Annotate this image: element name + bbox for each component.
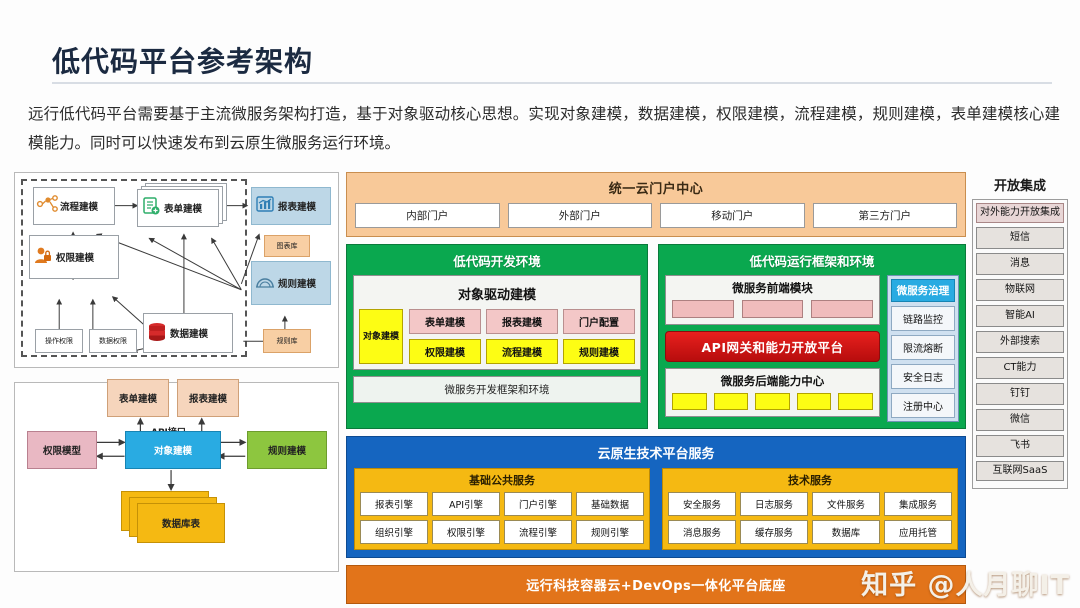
basic-service-rule-engine[interactable]: 规则引擎: [576, 520, 644, 544]
basic-services-group: 基础公共服务 报表引擎 API引擎 门户引擎 基础数据 组织引擎 权限引擎 流程…: [354, 468, 650, 550]
frontend-slot-2[interactable]: [742, 300, 804, 318]
report-chart-icon: [252, 195, 278, 217]
frontend-slots-row: [672, 300, 873, 318]
object-driven-modeling-panel: 对象驱动建模 对象建模 表单建模 报表建模 门户配置 权限建模 流程建模 规则建…: [353, 275, 641, 370]
integration-item-external-capability[interactable]: 对外能力开放集成: [976, 203, 1064, 223]
chart-library-label: 图表库: [277, 241, 298, 251]
basic-service-permission-engine[interactable]: 权限引擎: [432, 520, 500, 544]
rule-model-node: 规则建模: [247, 431, 327, 469]
integration-item-iot[interactable]: 物联网: [976, 279, 1064, 301]
object-form-label: 表单建模: [119, 391, 157, 405]
data-modeling-node: 数据建模: [143, 313, 233, 353]
basic-services-title: 基础公共服务: [360, 472, 644, 488]
portal-item-mobile[interactable]: 移动门户: [660, 203, 805, 228]
odm-title: 对象驱动建模: [359, 284, 635, 303]
title-divider: [52, 82, 1052, 84]
basic-service-org-engine[interactable]: 组织引擎: [360, 520, 428, 544]
object-report-node: 报表建模: [177, 379, 239, 417]
permission-modeling-label: 权限建模: [56, 250, 94, 264]
unified-portal-block: 统一云门户中心 内部门户 外部门户 移动门户 第三方门户: [346, 172, 966, 237]
basic-service-api-engine[interactable]: API引擎: [432, 492, 500, 516]
odm-chip-portal-config[interactable]: 门户配置: [563, 309, 635, 334]
odm-chip-form[interactable]: 表单建模: [409, 309, 481, 334]
operation-permission-label: 操作权限: [45, 336, 73, 346]
tech-services-title: 技术服务: [668, 472, 952, 488]
object-report-label: 报表建模: [189, 391, 227, 405]
object-model-diagram: 表单建模 报表建模 API接口 权限模型 对象建模 规则建模 数据库表: [14, 382, 339, 572]
object-modeling-label: 对象建模: [154, 443, 192, 457]
flow-modeling-label: 流程建模: [60, 199, 98, 213]
basic-service-portal-engine[interactable]: 门户引擎: [504, 492, 572, 516]
backend-slots-row: [672, 393, 873, 410]
dev-env-title: 低代码开发环境: [353, 251, 641, 270]
integration-item-sms[interactable]: 短信: [976, 227, 1064, 249]
odm-chip-permission[interactable]: 权限建模: [409, 339, 481, 364]
flow-graph-icon: [34, 195, 60, 217]
frontend-slot-3[interactable]: [811, 300, 873, 318]
cloud-native-groups: 基础公共服务 报表引擎 API引擎 门户引擎 基础数据 组织引擎 权限引擎 流程…: [354, 468, 958, 550]
rule-library-node: 规则库: [263, 329, 311, 353]
permission-model-label: 权限模型: [43, 443, 81, 457]
tech-service-log[interactable]: 日志服务: [740, 492, 808, 516]
open-integration-title: 开放集成: [972, 172, 1068, 199]
report-modeling-node: 报表建模: [251, 187, 331, 225]
data-modeling-label: 数据建模: [170, 326, 208, 340]
object-modeling-node: 对象建模: [125, 431, 221, 469]
integration-item-dingtalk[interactable]: 钉钉: [976, 383, 1064, 405]
portal-items-row: 内部门户 外部门户 移动门户 第三方门户: [355, 203, 957, 228]
db-table-label: 数据库表: [162, 516, 200, 530]
data-permission-label: 数据权限: [99, 336, 127, 346]
portal-title: 统一云门户中心: [355, 178, 957, 197]
object-form-node: 表单建模: [107, 379, 169, 417]
chart-library-node: 图表库: [264, 235, 310, 257]
cloud-native-platform-block: 云原生技术平台服务 基础公共服务 报表引擎 API引擎 门户引擎 基础数据 组织…: [346, 436, 966, 558]
platform-foundation-bar: 远行科技容器云+DevOps一体化平台底座: [346, 565, 966, 604]
run-env-main: 微服务前端模块 API网关和能力开放平台 微服务后端能力中心: [665, 275, 880, 422]
odm-object-modeling[interactable]: 对象建模: [359, 309, 403, 364]
basic-service-report-engine[interactable]: 报表引擎: [360, 492, 428, 516]
backend-slot-2[interactable]: [714, 393, 749, 410]
permission-modeling-node: 权限建模: [29, 235, 119, 279]
tech-service-app-hosting[interactable]: 应用托管: [884, 520, 952, 544]
run-env-title: 低代码运行框架和环境: [665, 251, 959, 270]
frontend-modules-title: 微服务前端模块: [672, 280, 873, 296]
rule-arc-icon: [252, 273, 278, 293]
integration-item-ct[interactable]: CT能力: [976, 357, 1064, 379]
db-table-node: 数据库表: [137, 503, 225, 543]
tech-service-database[interactable]: 数据库: [812, 520, 880, 544]
modeling-relations-diagram: 流程建模 表单建模 报表建模 图表库 权限建模: [14, 172, 339, 368]
tech-service-security[interactable]: 安全服务: [668, 492, 736, 516]
governance-item-registry[interactable]: 注册中心: [891, 393, 955, 418]
integration-item-message[interactable]: 消息: [976, 253, 1064, 275]
basic-service-base-data[interactable]: 基础数据: [576, 492, 644, 516]
frontend-slot-1[interactable]: [672, 300, 734, 318]
microservice-governance-panel: 微服务治理 链路监控 限流熔断 安全日志 注册中心: [887, 275, 959, 422]
form-modeling-label: 表单建模: [164, 201, 202, 215]
governance-title: 微服务治理: [891, 279, 955, 302]
frontend-modules-panel: 微服务前端模块: [665, 275, 880, 325]
rule-modeling-label: 规则建模: [278, 276, 316, 290]
governance-item-ratelimit[interactable]: 限流熔断: [891, 335, 955, 360]
rule-library-label: 规则库: [277, 336, 298, 346]
intro-paragraph: 远行低代码平台需要基于主流微服务架构打造，基于对象驱动核心思想。实现对象建模，数…: [28, 100, 1060, 158]
architecture-column: 统一云门户中心 内部门户 外部门户 移动门户 第三方门户 低代码开发环境 对象驱…: [346, 172, 966, 604]
basic-service-flow-engine[interactable]: 流程引擎: [504, 520, 572, 544]
data-permission-node: 数据权限: [89, 329, 137, 353]
permission-user-lock-icon: [30, 245, 56, 269]
tech-service-integration[interactable]: 集成服务: [884, 492, 952, 516]
permission-model-node: 权限模型: [27, 431, 97, 469]
tech-service-file[interactable]: 文件服务: [812, 492, 880, 516]
tech-service-message[interactable]: 消息服务: [668, 520, 736, 544]
integration-item-ai[interactable]: 智能AI: [976, 305, 1064, 327]
odm-chip-report[interactable]: 报表建模: [486, 309, 558, 334]
governance-item-security-log[interactable]: 安全日志: [891, 364, 955, 389]
form-doc-icon: [138, 196, 164, 220]
microservice-dev-framework: 微服务开发框架和环境: [353, 376, 641, 403]
tech-services-grid: 安全服务 日志服务 文件服务 集成服务 消息服务 缓存服务 数据库 应用托管: [668, 492, 952, 544]
governance-item-tracing[interactable]: 链路监控: [891, 306, 955, 331]
api-gateway-bar[interactable]: API网关和能力开放平台: [665, 331, 880, 362]
backend-slot-5[interactable]: [838, 393, 873, 410]
backend-capability-title: 微服务后端能力中心: [672, 373, 873, 389]
operation-permission-node: 操作权限: [35, 329, 83, 353]
tech-service-cache[interactable]: 缓存服务: [740, 520, 808, 544]
portal-item-internal[interactable]: 内部门户: [355, 203, 500, 228]
left-diagrams-column: 流程建模 表单建模 报表建模 图表库 权限建模: [14, 172, 339, 572]
report-modeling-label: 报表建模: [278, 199, 316, 213]
portal-item-external[interactable]: 外部门户: [508, 203, 653, 228]
database-stack-icon: [144, 321, 170, 345]
form-modeling-node: 表单建模: [137, 189, 219, 227]
basic-services-grid: 报表引擎 API引擎 门户引擎 基础数据 组织引擎 权限引擎 流程引擎 规则引擎: [360, 492, 644, 544]
odm-body: 对象建模 表单建模 报表建模 门户配置 权限建模 流程建模 规则建模: [359, 309, 635, 364]
integration-item-wechat[interactable]: 微信: [976, 409, 1064, 431]
backend-capability-panel: 微服务后端能力中心: [665, 368, 880, 417]
lowcode-dev-env-block: 低代码开发环境 对象驱动建模 对象建模 表单建模 报表建模 门户配置 权限建模 …: [346, 244, 648, 429]
portal-item-thirdparty[interactable]: 第三方门户: [813, 203, 958, 228]
odm-chip-flow[interactable]: 流程建模: [486, 339, 558, 364]
backend-slot-3[interactable]: [755, 393, 790, 410]
odm-chip-grid: 表单建模 报表建模 门户配置 权限建模 流程建模 规则建模: [409, 309, 635, 364]
odm-chip-rule[interactable]: 规则建模: [563, 339, 635, 364]
integration-item-external-search[interactable]: 外部搜索: [976, 331, 1064, 353]
tech-services-group: 技术服务 安全服务 日志服务 文件服务 集成服务 消息服务 缓存服务 数据库 应…: [662, 468, 958, 550]
environments-row: 低代码开发环境 对象驱动建模 对象建模 表单建模 报表建模 门户配置 权限建模 …: [346, 244, 966, 429]
rule-model-label: 规则建模: [268, 443, 306, 457]
integration-item-internet-saas[interactable]: 互联网SaaS: [976, 461, 1064, 481]
integration-item-feishu[interactable]: 飞书: [976, 435, 1064, 457]
run-env-body: 微服务前端模块 API网关和能力开放平台 微服务后端能力中心: [665, 275, 959, 422]
lowcode-runtime-block: 低代码运行框架和环境 微服务前端模块 API网关和能力开放平台 微服务后端能力中…: [658, 244, 966, 429]
rule-modeling-node: 规则建模: [251, 261, 331, 305]
flow-modeling-node: 流程建模: [33, 187, 115, 225]
open-integration-panel: 对外能力开放集成 短信 消息 物联网 智能AI 外部搜索 CT能力 钉钉 微信 …: [972, 199, 1068, 489]
backend-slot-4[interactable]: [797, 393, 832, 410]
backend-slot-1[interactable]: [672, 393, 707, 410]
open-integration-column: 开放集成 对外能力开放集成 短信 消息 物联网 智能AI 外部搜索 CT能力 钉…: [972, 172, 1068, 489]
cloud-native-title: 云原生技术平台服务: [354, 443, 958, 462]
page-title: 低代码平台参考架构: [52, 40, 313, 80]
